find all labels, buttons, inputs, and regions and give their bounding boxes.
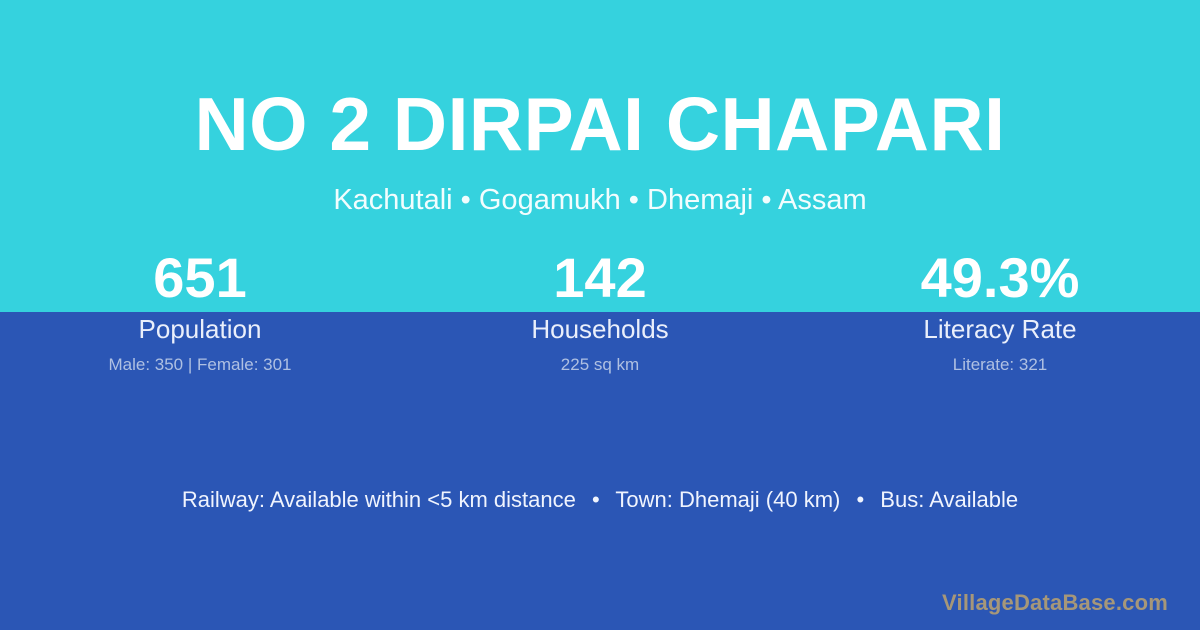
site-brand-watermark: VillageDataBase.com bbox=[942, 589, 1168, 617]
amenity-separator-icon: • bbox=[582, 485, 610, 515]
page-title: NO 2 DIRPAI CHAPARI bbox=[0, 82, 1200, 166]
stat-sub-population: Male: 350 | Female: 301 bbox=[0, 355, 400, 375]
statistics-row: 651 Population Male: 350 | Female: 301 1… bbox=[0, 246, 1200, 375]
amenity-town: Town: Dhemaji (40 km) bbox=[615, 487, 840, 512]
amenity-bus: Bus: Available bbox=[880, 487, 1018, 512]
stat-label-literacy-rate: Literacy Rate bbox=[800, 314, 1200, 344]
stat-label-population: Population bbox=[0, 314, 400, 344]
stat-card-population: 651 Population Male: 350 | Female: 301 bbox=[0, 246, 400, 375]
stat-sub-households: 225 sq km bbox=[400, 355, 800, 375]
amenity-railway: Railway: Available within <5 km distance bbox=[182, 487, 576, 512]
amenity-separator-icon: • bbox=[846, 485, 874, 515]
stat-card-literacy-rate: 49.3% Literacy Rate Literate: 321 bbox=[800, 246, 1200, 375]
stat-label-households: Households bbox=[400, 314, 800, 344]
stat-value-literacy-rate: 49.3% bbox=[800, 246, 1200, 310]
breadcrumb: Kachutali • Gogamukh • Dhemaji • Assam bbox=[0, 183, 1200, 217]
village-info-card: NO 2 DIRPAI CHAPARI Kachutali • Gogamukh… bbox=[0, 0, 1200, 630]
stat-value-population: 651 bbox=[0, 246, 400, 310]
stat-sub-literacy-rate: Literate: 321 bbox=[800, 355, 1200, 375]
amenities-line: Railway: Available within <5 km distance… bbox=[0, 485, 1200, 515]
stat-card-households: 142 Households 225 sq km bbox=[400, 246, 800, 375]
stat-value-households: 142 bbox=[400, 246, 800, 310]
